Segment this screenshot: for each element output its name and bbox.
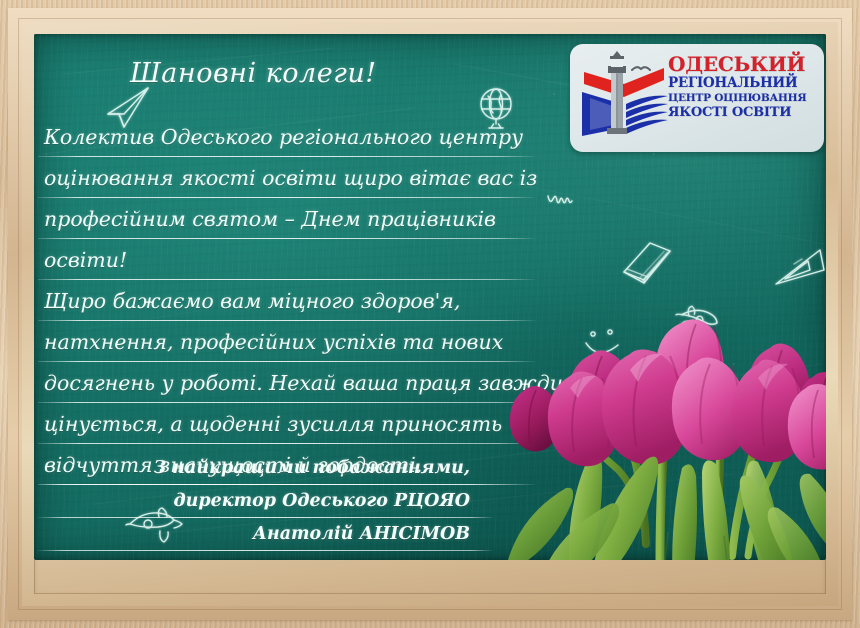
page-title: Шановні колеги! <box>130 58 377 89</box>
book-icon <box>620 239 674 287</box>
triangle-ruler-icon <box>772 246 826 292</box>
squiggle-icon <box>546 191 576 209</box>
message-line: оцінювання якості освіти щиро вітає вас … <box>40 161 510 202</box>
greeting-card: Шановні колеги! Колектив Одеського регіо… <box>0 0 860 628</box>
logo-line-regional: РЕГІОНАЛЬНИЙ <box>668 77 820 91</box>
logo-text: ОДЕСЬКИЙ РЕГІОНАЛЬНИЙ ЦЕНТР ОЦІНЮВАННЯ Я… <box>668 54 820 119</box>
lighthouse-book-emblem <box>578 50 674 146</box>
smiley-face-icon <box>582 329 626 361</box>
signature-line: З найкращими побажаннями, <box>40 454 472 487</box>
message-line: освіти! <box>40 243 510 284</box>
message-line: досягнень у роботі. Нехай ваша праця зав… <box>40 366 510 407</box>
message-line: натхнення, професійних успіхів та нових <box>40 325 510 366</box>
signature-line: Анатолій АНІСІМОВ <box>40 520 472 553</box>
message-body: Колектив Одеського регіонального центру … <box>40 120 510 489</box>
logo-line-quality: ЯКОСТІ ОСВІТИ <box>668 106 820 119</box>
message-line: Щиро бажаємо вам міцного здоров'я, <box>40 284 510 325</box>
organization-logo: ОДЕСЬКИЙ РЕГІОНАЛЬНИЙ ЦЕНТР ОЦІНЮВАННЯ Я… <box>570 44 824 152</box>
signature-line: директор Одеського РЦОЯО <box>40 487 472 520</box>
message-line: професійним святом – Днем працівників <box>40 202 510 243</box>
message-line: Колектив Одеського регіонального центру <box>40 120 510 161</box>
message-line: цінується, а щоденні зусилля приносять <box>40 407 510 448</box>
logo-line-odeskiy: ОДЕСЬКИЙ <box>668 54 820 74</box>
logo-line-center: ЦЕНТР ОЦІНЮВАННЯ <box>668 93 820 104</box>
rocket-icon <box>674 302 718 342</box>
signature-block: З найкращими побажаннями, директор Одесь… <box>40 454 472 553</box>
